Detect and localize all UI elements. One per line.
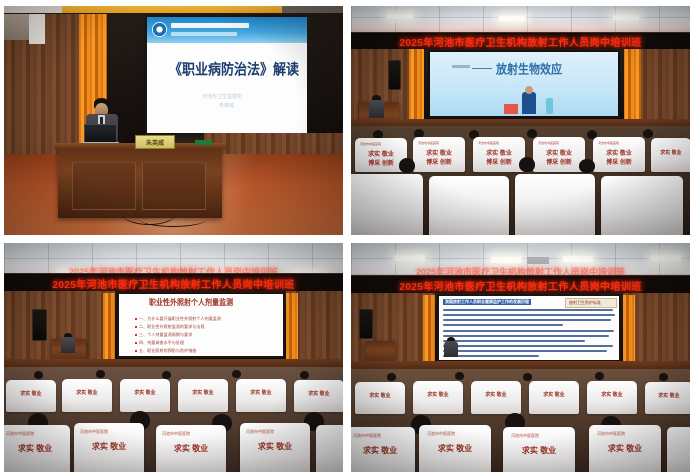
- chair-slogan-1: 求实 敬业: [419, 443, 491, 454]
- slide-badge: 放射卫生防护标准: [565, 298, 617, 308]
- chair-with-cover: 求实 敬业: [178, 379, 228, 412]
- chair-logo-text: 河池市中医医院: [598, 141, 619, 145]
- chair-front: [667, 427, 690, 472]
- chair-with-cover: 求实 敬业: [355, 382, 405, 414]
- chair-front: 河池市中医医院 求实 敬业: [4, 425, 70, 472]
- chair-logo-text: 河池市中医医院: [597, 431, 625, 437]
- chair-front: 河池市中医医院 求实 敬业: [419, 425, 491, 472]
- slide-bullet-item: 四、剂量调查水平与处理: [135, 340, 184, 346]
- audience-head: [595, 372, 604, 380]
- photo-panel-bottom-left: 2025年河池市医疗卫生机构放射工作人员岗中培训班 2025年河池市医疗卫生机构…: [4, 243, 343, 472]
- slide-subtitle-1: 河池市卫生监督所: [202, 93, 242, 100]
- chair-logo-text: 河池市中医医院: [246, 429, 274, 435]
- slide-body-line: [443, 335, 609, 337]
- audience-head: [232, 370, 241, 378]
- ceiling-vent: [527, 257, 549, 264]
- curtain-right: [284, 293, 298, 361]
- podium-small-plate: [195, 140, 212, 145]
- speaker-body: [369, 100, 384, 118]
- chair-slogan-1: 求实 敬业: [355, 392, 405, 399]
- chair-logo-text: 河池市中医医院: [353, 433, 381, 439]
- slide-figure-box-red: [504, 104, 518, 114]
- chair-slogan-2: 博采 创新: [413, 157, 465, 166]
- slide-bullet-text: 二、职业性外照射监测的要求与法规: [139, 324, 205, 330]
- chair-front: [316, 425, 343, 472]
- chair-slogan-1: 求实 敬业: [413, 148, 465, 157]
- photo-panel-bottom-right: 2025年河池市医疗卫生机构放射工作人员岗中培训班 2025年河池市医疗卫生机构…: [351, 243, 690, 472]
- audience-head: [455, 372, 464, 380]
- ceiling-light-4: [651, 255, 681, 261]
- curtain-right: [623, 49, 641, 119]
- projection-screen: 放射生物效应: [430, 52, 618, 116]
- audience-head: [519, 157, 535, 172]
- audience-head: [659, 373, 668, 381]
- slide-bullet-item: 五、职业照射的预防与防护措施: [135, 348, 196, 354]
- slide-body-line: [443, 309, 613, 311]
- chair-slogan-1: 求实 敬业: [236, 389, 286, 396]
- slide-figure-person: [522, 92, 536, 114]
- chair-with-cover: 求实 敬业: [587, 381, 637, 414]
- projection-screen: 《职业病防治法》解读 河池市卫生监督所 朱英威: [147, 17, 307, 133]
- speaker-body: [444, 341, 458, 357]
- chair-logo-text: 河池市中医医院: [538, 141, 559, 145]
- bullet-dot-icon: [135, 342, 137, 344]
- chair-slogan-1: 求实 敬业: [178, 389, 228, 396]
- audience-head: [96, 370, 105, 378]
- slide-body-line: [443, 324, 563, 326]
- wall-white-corner: [29, 14, 45, 44]
- chair-front: 河池市中医医院 求实 敬业: [503, 427, 575, 472]
- chair-slogan-2: 博采 创新: [533, 157, 585, 166]
- projection-screen: 放射卫生防护标准 我国放射工作人员职业健康监护工作的发展历程: [439, 296, 619, 360]
- chair-slogan-1: 求实 敬业: [355, 149, 407, 158]
- chair-front: [351, 174, 423, 235]
- slide-bullet-text: 四、剂量调查水平与处理: [139, 340, 184, 346]
- chair-slogan-1: 求实 敬业: [4, 443, 70, 454]
- chair-slogan-1: 求实 敬业: [351, 445, 415, 456]
- slide-header-line-1: [171, 23, 249, 28]
- audience-head: [399, 158, 415, 173]
- ceiling-light-1: [387, 14, 413, 19]
- chair-with-cover: 求实 敬业: [529, 381, 579, 414]
- chair-front: 河池市中医医院 求实 敬业: [589, 425, 661, 472]
- chair-with-cover: 河池市中医医院 求实 敬业 博采 创新: [413, 137, 465, 172]
- slide-figure-head: [525, 86, 533, 94]
- chair-slogan-1: 求实 敬业: [645, 392, 690, 399]
- chair-slogan-1: 求实 敬业: [156, 443, 226, 454]
- audience-head: [387, 373, 396, 381]
- bullet-dot-icon: [135, 318, 137, 320]
- chair-slogan-1: 求实 敬业: [294, 390, 343, 397]
- chair-front: 河池市中医医院 求实 敬业: [156, 425, 226, 472]
- photo-collage-grid: 《职业病防治法》解读 河池市卫生监督所 朱英威 朱英威: [0, 0, 694, 475]
- slide-bullet-text: 五、职业照射的预防与防护措施: [139, 348, 196, 354]
- chair-logo-text: 河池市中医医院: [511, 433, 539, 439]
- audience-head: [579, 159, 595, 173]
- chair-with-cover: 求实 敬业: [471, 381, 521, 414]
- chair-slogan-1: 求实 敬业: [533, 148, 585, 157]
- projection-screen: 职业性外照射个人剂量监测 一、为什么要开展职业性外照射个人剂量监测 二、职业性外…: [119, 294, 283, 356]
- ceiling: [351, 6, 690, 34]
- ceiling-light-2: [499, 16, 525, 21]
- chair-with-cover: 河池市中医医院 求实 敬业 博采 创新: [533, 137, 585, 172]
- photo-panel-top-left: 《职业病防治法》解读 河池市卫生监督所 朱英威 朱英威: [4, 6, 343, 235]
- audience-head: [643, 129, 653, 138]
- chair-front: [429, 176, 509, 235]
- chair-with-cover: 求实 敬业: [62, 379, 112, 412]
- slide-faint-label: [452, 65, 470, 68]
- speaker-body: [61, 337, 75, 353]
- chair-with-cover: 河池市中医医院 求实 敬业 博采 创新: [593, 137, 645, 172]
- chair-with-cover: 求实 敬业: [413, 381, 463, 414]
- chair-slogan-1: 求实 敬业: [587, 391, 637, 398]
- chair-front: [515, 174, 595, 235]
- audience-head: [162, 371, 171, 379]
- loudspeaker: [359, 309, 373, 339]
- chair-with-cover: 求实 敬业: [294, 380, 343, 412]
- chair-with-cover: 求实 敬业: [236, 379, 286, 412]
- chair-slogan-1: 求实 敬业: [529, 391, 579, 398]
- loudspeaker: [388, 60, 401, 90]
- audience-head: [300, 371, 309, 379]
- audience-head: [34, 371, 43, 379]
- ceiling-light-2: [491, 257, 521, 263]
- wall-right-dark: [307, 14, 343, 144]
- led-banner: 2025年河池市医疗卫生机构放射工作人员岗中培训班: [351, 275, 690, 295]
- slide-emblem-icon: [152, 22, 167, 37]
- chair-slogan-1: 求实 敬业: [62, 389, 112, 396]
- slide-body-line: [443, 319, 611, 321]
- slide-subtitle-2: 朱英威: [219, 102, 234, 109]
- slide-body-line: [443, 330, 614, 332]
- chair-logo-text: 河池市中医医院: [80, 429, 108, 435]
- chair-slogan-1: 求实 敬业: [74, 441, 144, 452]
- chair-logo-text: 河池市中医医院: [162, 431, 190, 437]
- presenter-nameplate-text: 朱英威: [146, 138, 164, 147]
- led-banner-text: 2025年河池市医疗卫生机构放射工作人员岗中培训班: [399, 34, 641, 49]
- chair-slogan-1: 求实 敬业: [240, 441, 310, 452]
- slide-body-line: [443, 314, 615, 316]
- chair-logo-text: 河池市中医医院: [427, 431, 455, 437]
- slide-badge-text: 放射卫生防护标准: [569, 300, 601, 306]
- chair-logo-text: 河池市中医医院: [478, 141, 499, 145]
- floor-cable-2: [140, 212, 206, 227]
- chair-slogan-1: 求实 敬业: [589, 443, 661, 454]
- chair-slogan-2: 博采 创新: [593, 157, 645, 166]
- chair-slogan-1: 求实 敬业: [120, 389, 170, 396]
- slide-bullet-text: 一、为什么要开展职业性外照射个人剂量监测: [139, 316, 221, 322]
- ceiling-light-3: [613, 15, 639, 20]
- chair-slogan-1: 求实 敬业: [651, 149, 690, 156]
- chair-slogan-1: 求实 敬业: [413, 391, 463, 398]
- chair-with-cover: 求实 敬业: [120, 379, 170, 412]
- photo-panel-top-right: 2025年河池市医疗卫生机构放射工作人员岗中培训班 放射生物效应: [351, 6, 690, 235]
- bullet-dot-icon: [135, 334, 137, 336]
- bullet-dot-icon: [135, 350, 137, 352]
- slide-body-line: [443, 350, 607, 352]
- chair-logo-text: 河池市中医医院: [6, 431, 34, 437]
- led-banner-text: 2025年河池市医疗卫生机构放射工作人员岗中培训班: [399, 278, 641, 293]
- chair-front: [601, 176, 683, 235]
- chair-slogan-1: 求实 敬业: [471, 391, 521, 398]
- curtain-right: [621, 295, 635, 363]
- slide-body-line: [443, 345, 613, 347]
- bullet-dot-icon: [135, 326, 137, 328]
- slide-bullet-item: 二、职业性外照射监测的要求与法规: [135, 324, 205, 330]
- slide-bullet-item: 三、个人剂量监测周期与要求: [135, 332, 192, 338]
- chair-slogan-1: 求实 敬业: [593, 148, 645, 157]
- chair-slogan-1: 求实 敬业: [473, 148, 525, 157]
- ceiling-soffit-strip: [62, 6, 282, 13]
- led-banner: 2025年河池市医疗卫生机构放射工作人员岗中培训班: [4, 273, 343, 293]
- presenter-nameplate: 朱英威: [135, 135, 175, 149]
- chair-logo-text: 河池市中医医院: [418, 141, 439, 145]
- chair-slogan-1: 求实 敬业: [6, 390, 56, 397]
- audience-head: [523, 373, 532, 381]
- led-banner-text: 2025年河池市医疗卫生机构放射工作人员岗中培训班: [52, 276, 294, 291]
- slide-figure-bottle: [546, 98, 553, 114]
- ceiling-light-1: [395, 255, 425, 261]
- chair-front: 河池市中医医院 求实 敬业: [240, 423, 310, 472]
- chair-slogan-2: 博采 创新: [473, 157, 525, 166]
- slide-header-line-2: [171, 32, 237, 36]
- slide-body-line: [443, 340, 585, 342]
- slide-title: 《职业病防治法》解读: [169, 58, 299, 79]
- ceiling-light-3: [563, 256, 593, 262]
- chair-with-cover: 求实 敬业: [645, 382, 690, 414]
- slide-title: 职业性外照射个人剂量监测: [149, 297, 233, 308]
- chair-with-cover: 求实 敬业: [651, 138, 690, 172]
- slide-title: 放射生物效应: [496, 60, 562, 78]
- slide-rule-line: [472, 68, 492, 69]
- chair-with-cover: 求实 敬业: [6, 380, 56, 412]
- slide-bullet-text: 三、个人剂量监测周期与要求: [139, 332, 192, 338]
- chair-with-cover: 河池市中医医院 求实 敬业 博采 创新: [473, 137, 525, 172]
- chair-front: 河池市中医医院 求实 敬业: [351, 427, 415, 472]
- slide-bullet-item: 一、为什么要开展职业性外照射个人剂量监测: [135, 316, 221, 322]
- slide-header-band: [147, 17, 307, 43]
- loudspeaker: [32, 309, 47, 341]
- chair-logo-text: 河池市中医医院: [360, 142, 381, 146]
- chair-slogan-1: 求实 敬业: [503, 445, 575, 456]
- microphone-head: [120, 113, 127, 117]
- chair-front: 河池市中医医院 求实 敬业: [74, 423, 144, 472]
- slide-title: 我国放射工作人员职业健康监护工作的发展历程: [443, 299, 531, 305]
